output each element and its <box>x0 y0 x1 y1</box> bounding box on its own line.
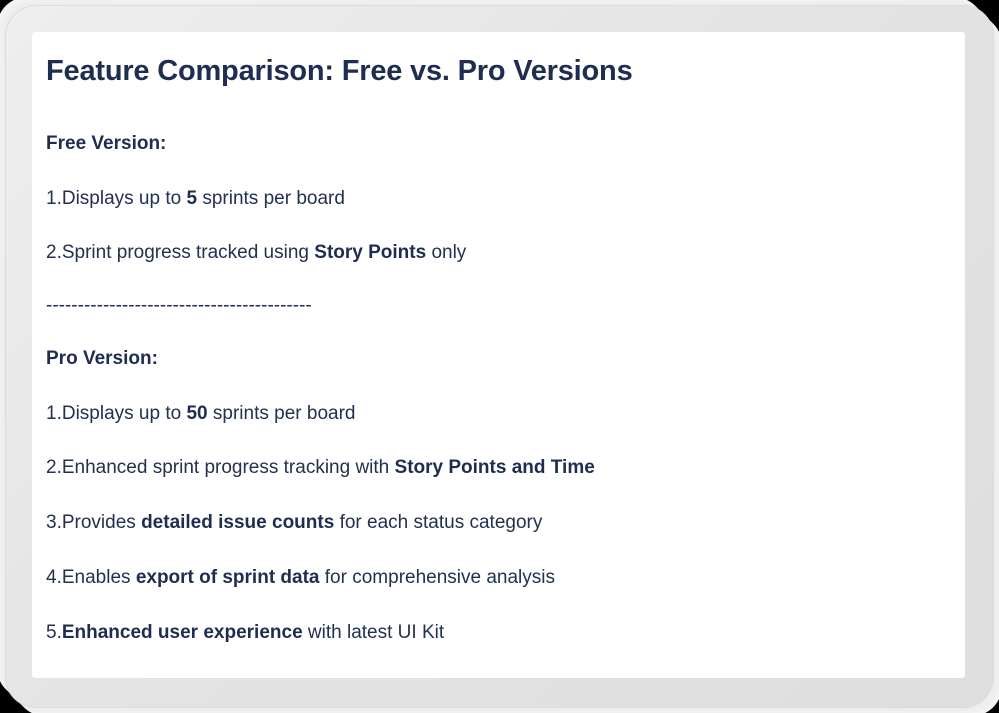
list-item-text: for comprehensive analysis <box>320 567 556 588</box>
section-divider: ----------------------------------------… <box>46 295 939 318</box>
list-item: 1.Displays up to 5 sprints per board <box>46 187 939 211</box>
spacer <box>46 644 939 674</box>
list-item-emphasis: Enhanced user experience <box>62 622 303 643</box>
list-item: 3.Provides detailed issue counts for eac… <box>46 511 939 535</box>
page-title: Feature Comparison: Free vs. Pro Version… <box>46 54 939 89</box>
list-item-emphasis: 50 <box>186 403 207 424</box>
list-item-emphasis: Story Points <box>314 242 426 263</box>
spacer <box>46 371 939 402</box>
list-item-text: Enhanced sprint progress tracking with <box>62 457 395 478</box>
list-item-emphasis: 5 <box>186 188 197 209</box>
list-item-emphasis: Story Points and Time <box>395 457 595 478</box>
list-item-number: 1. <box>46 188 62 209</box>
spacer <box>46 318 939 348</box>
spacer <box>46 590 939 621</box>
list-item-number: 3. <box>46 512 62 533</box>
content-card: Feature Comparison: Free vs. Pro Version… <box>32 32 965 678</box>
list-item-text: Displays up to <box>62 188 187 209</box>
list-item: 1.Displays up to 50 sprints per board <box>46 402 939 426</box>
list-item-text: Enables <box>62 567 136 588</box>
spacer <box>46 265 939 295</box>
list-item: 5.Enhanced user experience with latest U… <box>46 621 939 645</box>
list-item-text: with latest UI Kit <box>303 622 445 643</box>
list-item-text: only <box>426 242 466 263</box>
list-item-number: 2. <box>46 457 62 478</box>
section-heading-pro: Pro Version: <box>46 348 939 371</box>
list-item-number: 2. <box>46 242 62 263</box>
device-frame: Feature Comparison: Free vs. Pro Version… <box>6 6 993 707</box>
list-item-emphasis: export of sprint data <box>136 567 320 588</box>
list-item-number: 1. <box>46 403 62 424</box>
section-divider: ----------------------------------------… <box>46 674 939 678</box>
spacer <box>46 480 939 511</box>
spacer <box>46 156 939 187</box>
list-item: 2.Enhanced sprint progress tracking with… <box>46 456 939 480</box>
list-item-text: Provides <box>62 512 141 533</box>
spacer <box>46 89 939 133</box>
list-item-text: Displays up to <box>62 403 187 424</box>
spacer <box>46 425 939 456</box>
spacer <box>46 535 939 566</box>
spacer <box>46 210 939 241</box>
document-body: Feature Comparison: Free vs. Pro Version… <box>32 32 965 678</box>
list-item-text: Sprint progress tracked using <box>62 242 314 263</box>
list-item-text: sprints per board <box>208 403 356 424</box>
list-item-text: sprints per board <box>197 188 345 209</box>
list-item-emphasis: detailed issue counts <box>141 512 334 533</box>
list-item-text: for each status category <box>334 512 542 533</box>
list-item: 2.Sprint progress tracked using Story Po… <box>46 241 939 265</box>
list-item-number: 5. <box>46 622 62 643</box>
list-item: 4.Enables export of sprint data for comp… <box>46 566 939 590</box>
list-item-number: 4. <box>46 567 62 588</box>
section-heading-free: Free Version: <box>46 133 939 156</box>
